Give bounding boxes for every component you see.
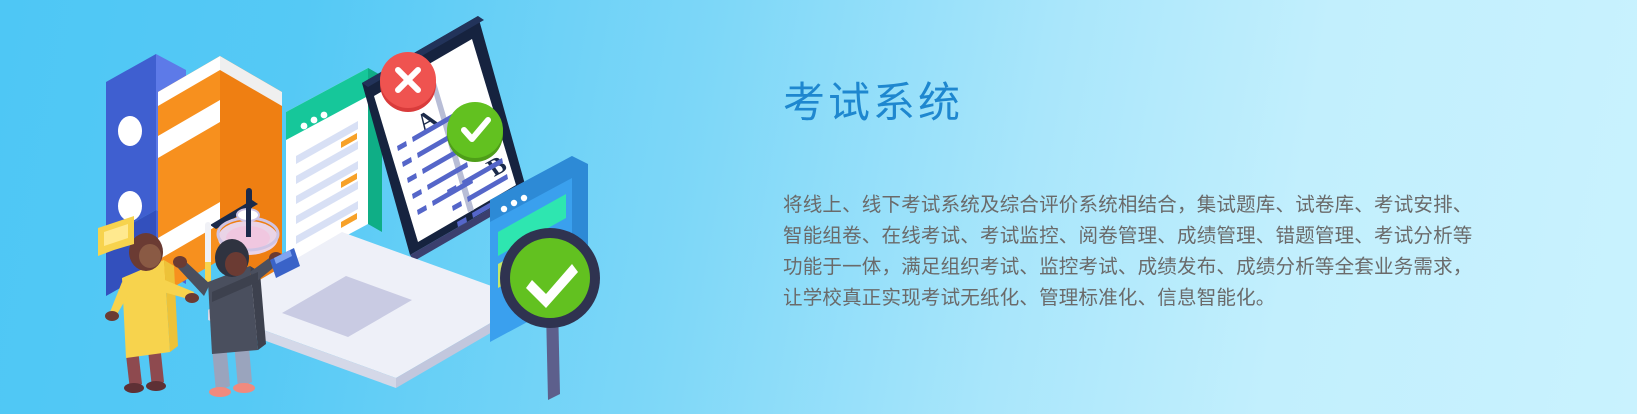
description-line-2: 智能组卷、在线考试、考试监控、阅卷管理、成绩管理、错题管理、考试分析等 [783, 221, 1523, 252]
exam-system-isometric-illustration: A B [60, 10, 680, 410]
badge-wrong-icon [380, 52, 436, 112]
banner-description: 将线上、线下考试系统及综合评价系统相结合，集试题库、试卷库、考试安排、 智能组卷… [783, 190, 1523, 314]
page-title: 考试系统 [783, 78, 1523, 128]
description-line-4: 让学校真正实现考试无纸化、管理标准化、信息智能化。 [783, 283, 1523, 314]
banner-text-block: 考试系统 将线上、线下考试系统及综合评价系统相结合，集试题库、试卷库、考试安排、… [783, 78, 1523, 314]
description-line-1: 将线上、线下考试系统及综合评价系统相结合，集试题库、试卷库、考试安排、 [783, 190, 1523, 221]
exam-system-banner: A B [0, 0, 1637, 414]
badge-correct-icon [447, 102, 503, 162]
description-line-3: 功能于一体，满足组织考试、监控考试、成绩发布、成绩分析等全套业务需求， [783, 252, 1523, 283]
